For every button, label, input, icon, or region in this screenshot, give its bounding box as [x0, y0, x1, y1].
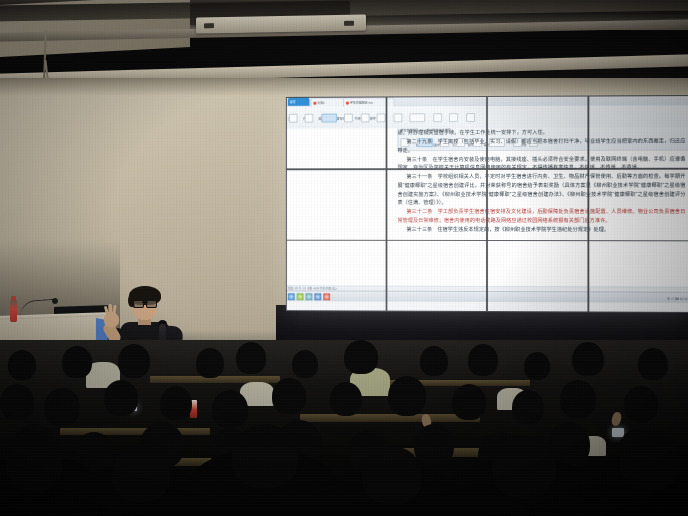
audience-head	[62, 346, 92, 378]
presenter-glasses	[133, 300, 157, 306]
audience-head	[212, 390, 248, 428]
ribbon-icon-row[interactable]	[289, 112, 687, 127]
fixture-nub-left	[204, 23, 214, 28]
media-icon[interactable]	[306, 293, 313, 300]
audience-head	[0, 384, 34, 420]
doc-paragraph-article-31: 第三十一条 学校组织相关人员，不定时对学生宿舍进行内务、卫生、物品财产保管使用、…	[398, 173, 686, 208]
audience-head	[638, 348, 668, 380]
doc-icon	[313, 101, 316, 104]
underline-icon[interactable]	[393, 113, 402, 122]
water-bottle	[10, 300, 17, 322]
cut-icon[interactable]	[305, 114, 314, 123]
desk-row-mid-1	[300, 414, 480, 422]
audience-head	[524, 352, 550, 380]
document-left-margin	[286, 128, 398, 301]
ceiling	[0, 0, 688, 86]
audience-head-foreground	[620, 432, 680, 490]
audience-head	[196, 348, 224, 378]
audience-head-foreground	[112, 444, 170, 502]
doc-icon-2	[346, 101, 349, 104]
paste-icon[interactable]	[289, 114, 298, 123]
audience-head	[344, 340, 378, 374]
presenter-glasses-bridge	[142, 302, 148, 303]
audience-head	[236, 342, 266, 374]
explorer-icon[interactable]	[297, 293, 304, 300]
wps-icon[interactable]	[323, 293, 330, 300]
audience-head	[624, 386, 658, 422]
audience-head-foreground	[6, 436, 62, 492]
styles-icon[interactable]	[466, 113, 475, 122]
wall-top-shadow	[0, 78, 688, 96]
audience-head	[572, 342, 604, 376]
audience	[0, 340, 688, 516]
system-tray[interactable]: 中 ∧ ⌨ 16:42	[667, 297, 688, 301]
browser-icon[interactable]	[288, 293, 295, 300]
audience-head	[118, 344, 150, 378]
doc-paragraph-article-32: 第三十二条 学工部负责学生宿舍住宿安排及文化建设，后勤保障处负责宿舍设施配置、人…	[398, 208, 686, 225]
audience-head	[512, 390, 544, 424]
italic-icon[interactable]	[377, 113, 386, 122]
ceiling-light-fixture	[196, 15, 366, 34]
audience-head	[272, 378, 306, 414]
bold-icon[interactable]	[361, 113, 370, 122]
doc-paragraph-article-29: 第二十九条 学生离校（包括毕业、实习、请假）都应当把本宿舍打扫干净，毕业班学生应…	[398, 138, 686, 156]
desk-row-mid-2	[60, 428, 210, 435]
bezel-vertical-1	[386, 96, 388, 311]
font-name-box[interactable]	[321, 114, 337, 123]
audience-head	[160, 386, 192, 420]
led-video-wall[interactable]: 首页 文档1 学生管理规定.doc 文件 开始 插入 页面布局 引用 邮件	[286, 95, 688, 313]
font-size-box[interactable]	[344, 114, 353, 123]
audience-head	[560, 380, 596, 418]
document-text-body[interactable]: 通，并办理相关留宿手续。在学生工作处统一安排下，方可入住。 第二十九条 学生离校…	[398, 127, 686, 303]
audience-head	[44, 388, 80, 426]
bezel-vertical-2	[486, 96, 488, 312]
lecture-hall-photo: 首页 文档1 学生管理规定.doc 文件 开始 插入 页面布局 引用 邮件	[0, 0, 688, 516]
audience-head	[414, 424, 454, 466]
tab-document-1-label: 文档1	[317, 101, 325, 105]
doc-paragraph-0: 通，并办理相关留宿手续。在学生工作处统一安排下，方可入住。	[398, 128, 686, 137]
audience-head	[420, 346, 448, 376]
tab-document-2-label: 学生管理规定.doc	[350, 101, 373, 105]
audience-head	[292, 350, 318, 378]
audience-head	[8, 350, 36, 380]
tab-home-label: 首页	[290, 100, 296, 104]
doc-paragraph-article-30: 第三十条 在学生宿舍内安装及使用电脑，其接线座、插头必须符合安全要求。使用及联网…	[398, 155, 686, 173]
audience-head-foreground	[362, 446, 422, 504]
bullets-icon[interactable]	[433, 113, 442, 122]
chat-icon[interactable]	[314, 293, 321, 300]
fixture-nub-right	[344, 21, 354, 26]
water-bottle-cap	[11, 296, 16, 301]
audience-head	[388, 376, 426, 416]
audience-head-foreground	[492, 436, 556, 498]
numbering-icon[interactable]	[449, 113, 458, 122]
tab-home[interactable]: 首页	[288, 98, 310, 106]
audience-head-foreground	[232, 424, 298, 488]
audience-head	[452, 384, 486, 420]
paragraph-align-group[interactable]	[409, 113, 425, 122]
gooseneck-microphone-head	[52, 298, 58, 304]
audience-head	[468, 344, 498, 376]
audience-head	[330, 382, 362, 416]
bezel-vertical-3	[587, 96, 589, 313]
audience-head	[104, 380, 138, 416]
doc-paragraph-article-33: 第三十三条 住宿学生违反本规定的，按《柳州职业技术学院学生违纪处分规定》处理。	[398, 226, 686, 235]
